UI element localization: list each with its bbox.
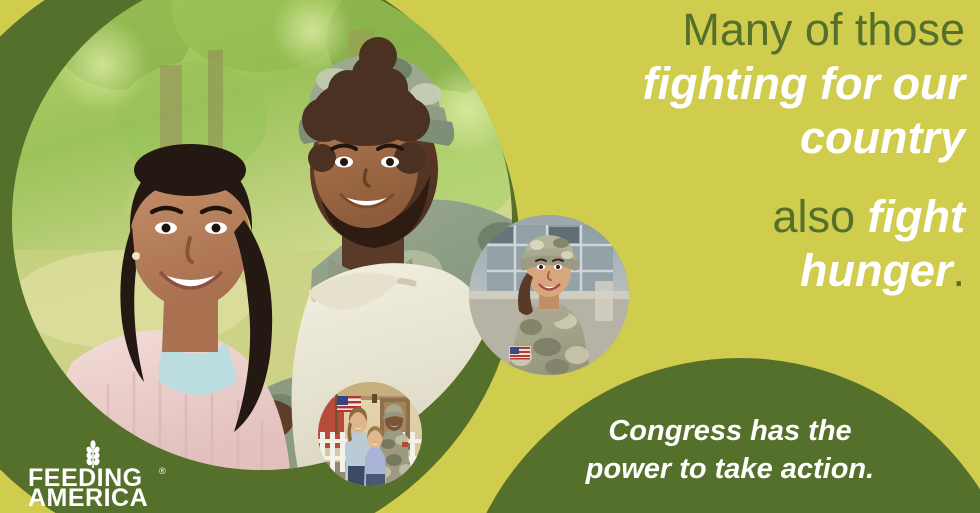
poster-canvas: Many of those fighting for our country a… <box>0 0 980 513</box>
headline: Many of those fighting for our country a… <box>520 4 965 297</box>
subheadline: Congress has the power to take action. <box>540 412 920 489</box>
logo-line-2: AMERICA <box>28 484 148 506</box>
headline-line-3: country <box>520 112 965 164</box>
military-family-home-photo <box>318 382 422 486</box>
feeding-america-logo: FEEDING ® AMERICA <box>28 440 198 506</box>
headline-line-5: hunger. <box>520 245 965 297</box>
logo-trademark: ® <box>159 466 166 476</box>
subheadline-line-2: power to take action. <box>540 450 920 488</box>
headline-line-4: also fight <box>520 191 965 243</box>
subheadline-line-1: Congress has the <box>540 412 920 450</box>
headline-line-1: Many of those <box>520 4 965 56</box>
headline-line-2: fighting for our <box>520 58 965 110</box>
